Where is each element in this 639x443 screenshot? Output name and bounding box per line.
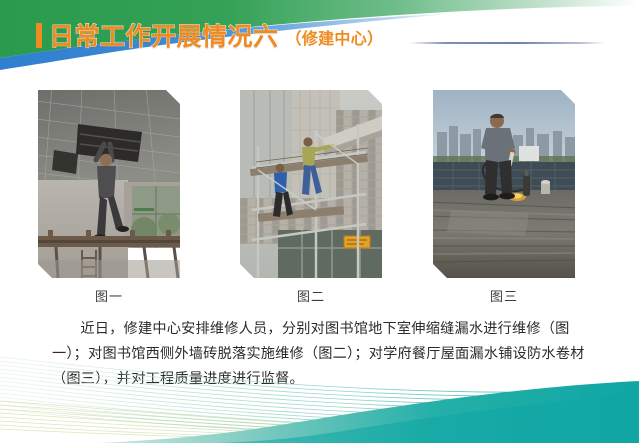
photo-frame-3[interactable] — [429, 86, 579, 282]
photo-cell-3: 图三 — [429, 86, 579, 282]
photo-image-3 — [433, 90, 575, 278]
photo-row: 图一 — [0, 86, 639, 301]
photo-caption-2: 图二 — [236, 286, 386, 305]
title-main-text: 日常工作开展情况六 — [49, 24, 279, 49]
slide-canvas: 日常工作开展情况六 （修建中心） — [0, 0, 639, 443]
photo-caption-3: 图三 — [429, 286, 579, 305]
header-rule-line — [409, 42, 605, 44]
page-title: 日常工作开展情况六 （修建中心） — [36, 20, 383, 50]
photo-cell-2: 图二 — [236, 86, 386, 282]
title-accent-bar — [36, 23, 42, 48]
photo-cell-1: 图一 — [34, 86, 184, 282]
photo-caption-1: 图一 — [34, 286, 184, 305]
body-paragraph: 近日，修建中心安排维修人员，分别对图书馆地下室伸缩缝漏水进行维修（图一）；对图书… — [52, 317, 597, 392]
photo-image-2 — [240, 90, 382, 278]
body-text-block: 近日，修建中心安排维修人员，分别对图书馆地下室伸缩缝漏水进行维修（图一）；对图书… — [52, 317, 597, 392]
photo-image-1 — [38, 90, 180, 278]
photo-frame-1[interactable] — [34, 86, 184, 282]
photo-frame-2[interactable] — [236, 86, 386, 282]
title-sub-text: （修建中心） — [286, 25, 384, 49]
